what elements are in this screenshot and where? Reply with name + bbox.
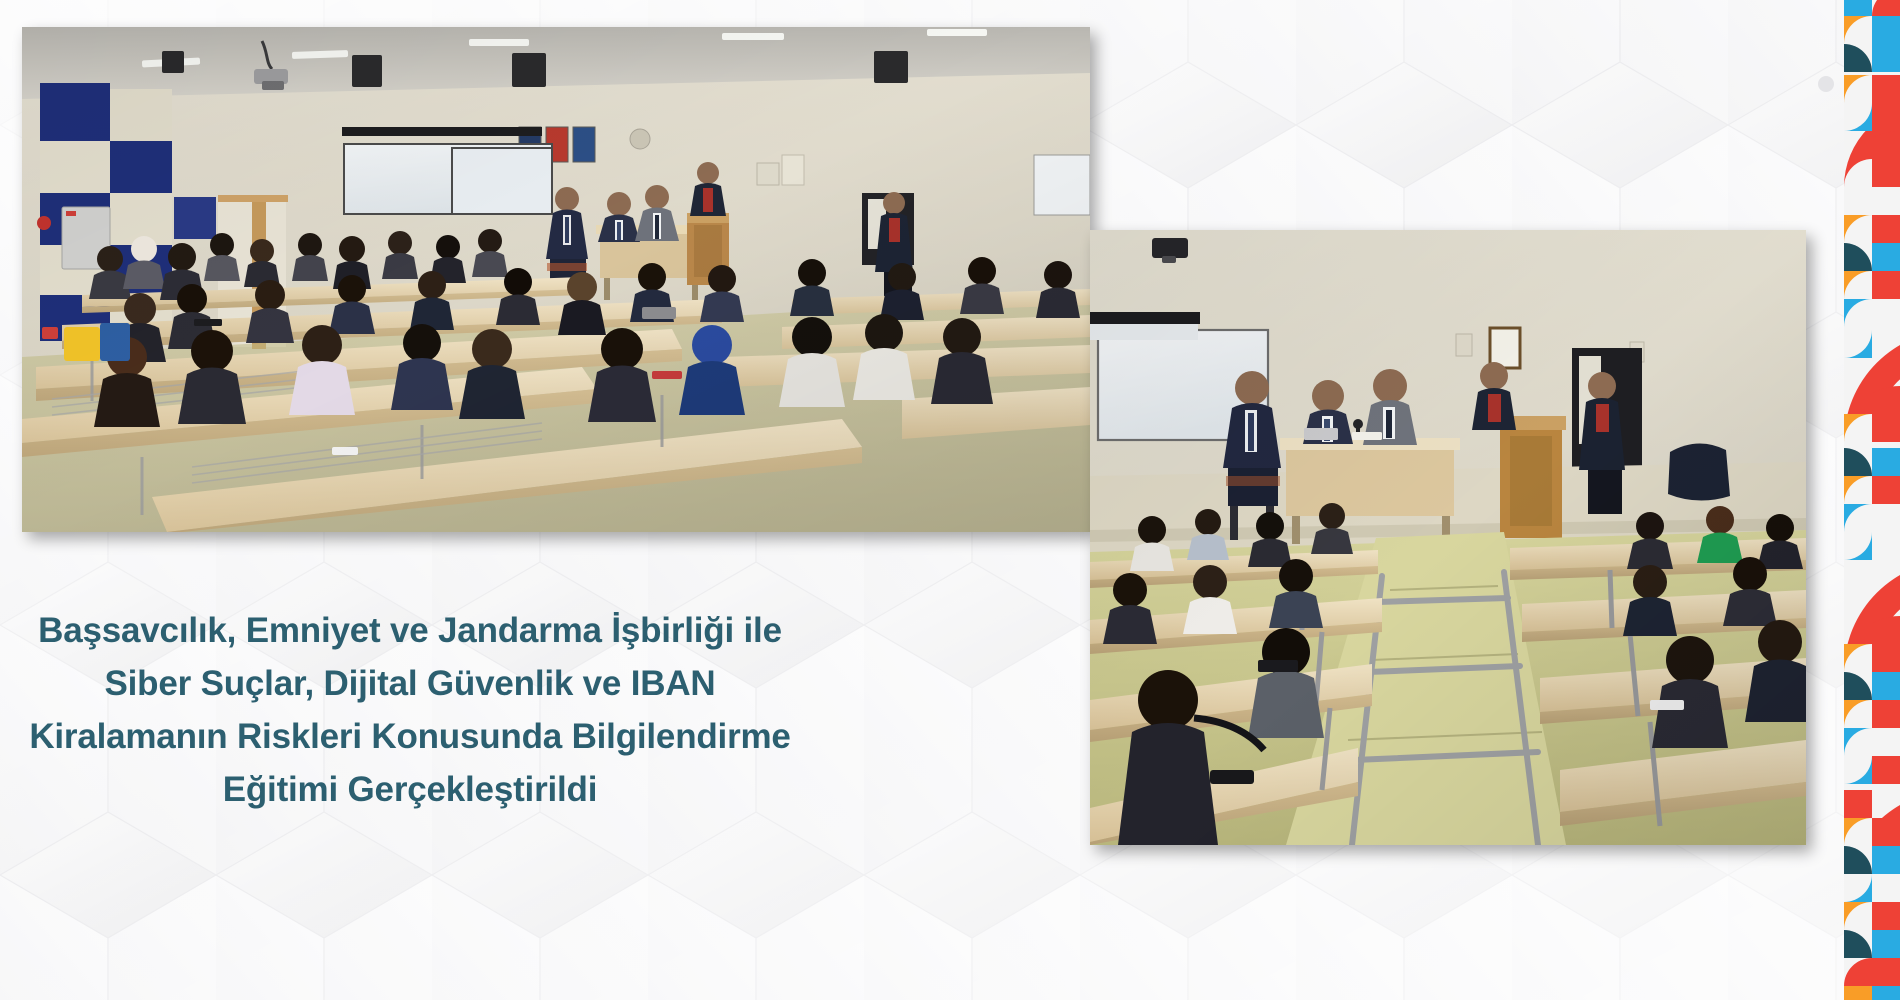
page-title: Başsavcılık, Emniyet ve Jandarma İşbirli… xyxy=(10,604,810,816)
decorative-pattern-strip xyxy=(1844,0,1900,1000)
poster-canvas: Başsavcılık, Emniyet ve Jandarma İşbirli… xyxy=(0,0,1900,1000)
title-line-2: Siber Suçlar, Dijital Güvenlik ve IBAN xyxy=(10,657,810,710)
title-line-3: Kiralamanın Riskleri Konusunda Bilgilend… xyxy=(10,710,810,763)
title-line-1: Başsavcılık, Emniyet ve Jandarma İşbirli… xyxy=(10,604,810,657)
title-line-4: Eğitimi Gerçekleştirildi xyxy=(10,763,810,816)
photo-lecture-hall-wide xyxy=(22,27,1090,532)
photo-lecture-hall-aisle xyxy=(1090,230,1806,845)
